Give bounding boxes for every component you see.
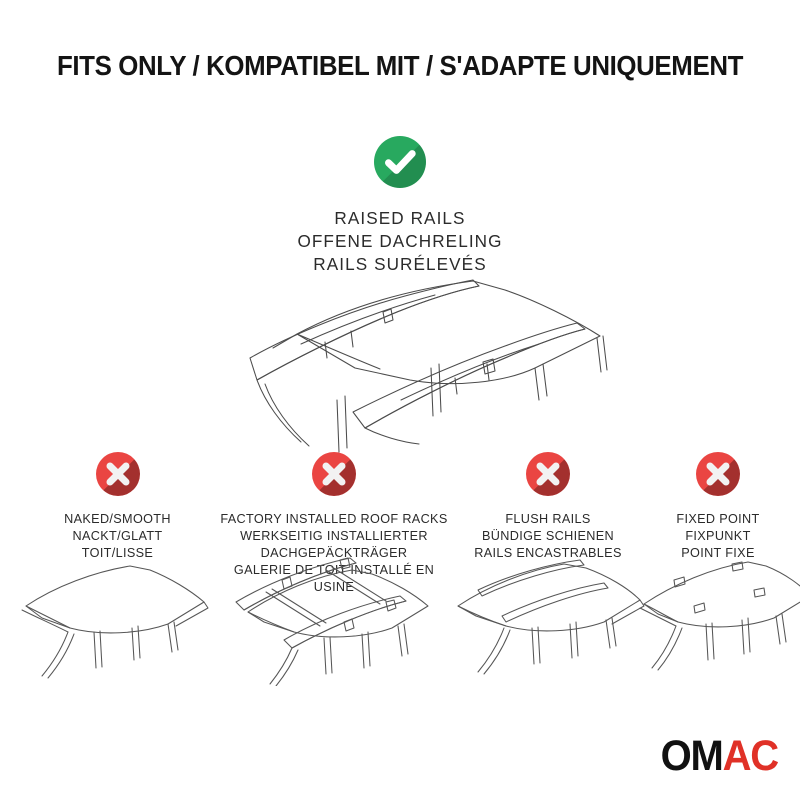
factory-roof-rack-illustration <box>222 556 442 686</box>
x-mark-glyph <box>312 452 356 496</box>
car-roof-flush-rails-drawing <box>440 556 645 686</box>
incompatible-item-flush-rails: FLUSH RAILS BÜNDIGE SCHIENEN RAILS ENCAS… <box>452 452 644 562</box>
label-en: FIXED POINT <box>641 511 795 528</box>
page-title: FITS ONLY / KOMPATIBEL MIT / S'ADAPTE UN… <box>24 50 776 82</box>
label-de: FIXPUNKT <box>641 528 795 545</box>
label-en: FACTORY INSTALLED ROOF RACKS <box>218 511 450 528</box>
x-circle-icon <box>96 452 140 496</box>
incompatible-section: NAKED/SMOOTH NACKT/GLATT TOIT/LISSE FACT… <box>0 452 800 562</box>
omac-logo: OMAC <box>661 735 778 777</box>
compatible-label-de: OFFENE DACHRELING <box>8 230 792 253</box>
car-roof-fixed-point-drawing <box>630 556 800 686</box>
label-en: NAKED/SMOOTH <box>24 511 211 528</box>
logo-text-ac: AC <box>723 733 778 780</box>
compatible-labels: RAISED RAILS OFFENE DACHRELING RAILS SUR… <box>8 207 792 276</box>
x-circle-icon <box>526 452 570 496</box>
label-en: FLUSH RAILS <box>456 511 640 528</box>
compatible-label-fr: RAILS SURÉLEVÉS <box>8 253 792 276</box>
x-mark-glyph <box>96 452 140 496</box>
incompatible-labels: NAKED/SMOOTH NACKT/GLATT TOIT/LISSE <box>24 511 211 562</box>
label-de-1: WERKSEITIG INSTALLIERTER <box>218 528 450 545</box>
logo-text-om: OM <box>661 733 723 780</box>
raised-rails-illustration <box>205 276 625 456</box>
flush-rails-illustration <box>440 556 645 686</box>
label-de: NACKT/GLATT <box>24 528 211 545</box>
incompatible-labels: FIXED POINT FIXPUNKT POINT FIXE <box>641 511 795 562</box>
incompatible-item-fixed-point: FIXED POINT FIXPUNKT POINT FIXE <box>638 452 798 562</box>
incompatible-item-naked-smooth: NAKED/SMOOTH NACKT/GLATT TOIT/LISSE <box>20 452 215 562</box>
car-roof-raised-rails-drawing <box>205 276 625 456</box>
naked-smooth-illustration <box>8 556 218 686</box>
incompatible-labels: FLUSH RAILS BÜNDIGE SCHIENEN RAILS ENCAS… <box>456 511 640 562</box>
label-de: BÜNDIGE SCHIENEN <box>456 528 640 545</box>
x-mark-glyph <box>526 452 570 496</box>
x-circle-icon <box>312 452 356 496</box>
car-roof-factory-rack-drawing <box>222 556 442 686</box>
check-circle-icon <box>374 136 426 188</box>
compatible-section: RAISED RAILS OFFENE DACHRELING RAILS SUR… <box>0 136 800 276</box>
x-mark-glyph <box>696 452 740 496</box>
check-mark-glyph <box>374 136 426 188</box>
car-roof-naked-drawing <box>8 556 218 686</box>
roof-type-illustrations <box>0 556 800 696</box>
fixed-point-illustration <box>630 556 800 686</box>
x-circle-icon <box>696 452 740 496</box>
compatible-label-en: RAISED RAILS <box>8 207 792 230</box>
